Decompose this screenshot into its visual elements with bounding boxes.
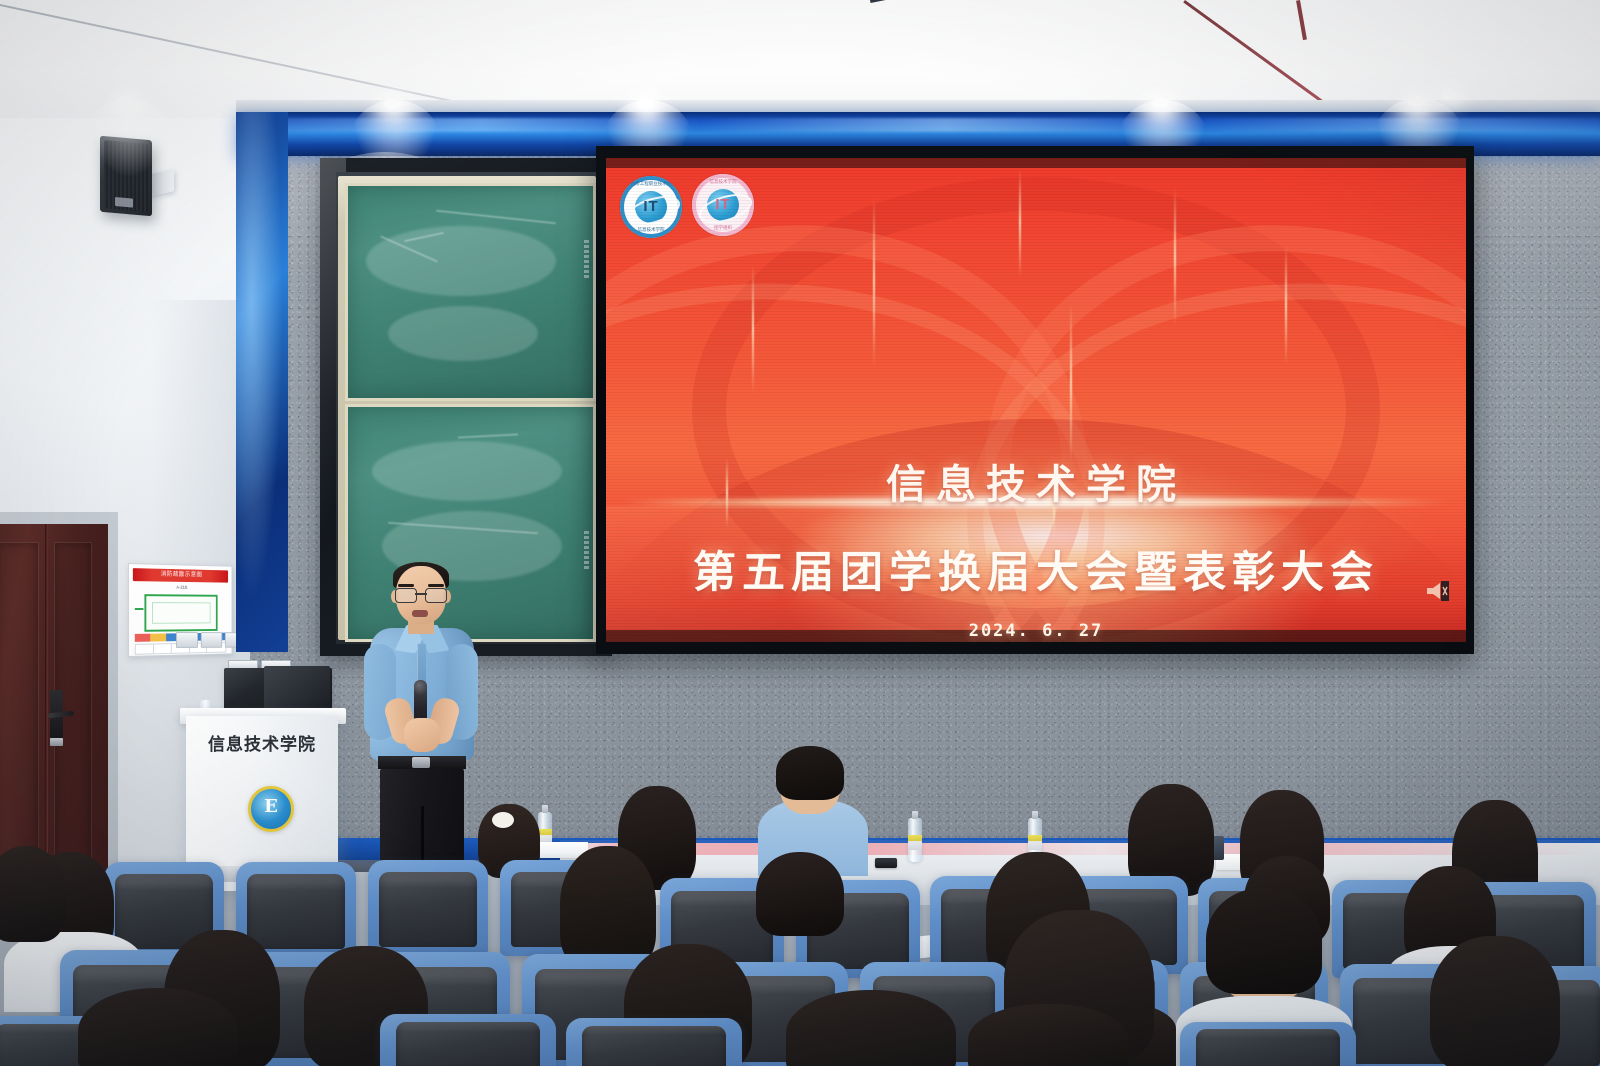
presenter-mouth xyxy=(412,610,428,617)
door-card-reader-icon[interactable] xyxy=(50,738,63,746)
presenter-brow xyxy=(428,584,444,587)
emblem-top-arc-text: 信息技术学院 xyxy=(692,179,754,185)
led-light-ray xyxy=(752,264,754,394)
speaker-mute-icon[interactable] xyxy=(1424,580,1450,602)
audience-hair xyxy=(968,1004,1128,1066)
presenter-shirt-placket xyxy=(417,644,426,682)
auditorium-seat[interactable] xyxy=(566,1018,742,1066)
led-light-ray xyxy=(1174,187,1176,327)
led-horizon-core xyxy=(744,494,1329,510)
auditorium-seat[interactable] xyxy=(1180,1022,1356,1066)
phone[interactable] xyxy=(875,858,897,868)
presenter-hands xyxy=(404,718,440,752)
emblem-bottom-arc-text: 团学组织 xyxy=(692,225,754,231)
presenter-brow xyxy=(398,584,414,587)
speaker-badge xyxy=(115,197,133,208)
emblem-top-arc-text: 广州市工程职业技术学院 xyxy=(620,181,682,187)
led-display[interactable]: 广州市工程职业技术学院 IT 信息技术学院 信息技术学院 IT 团学组织 xyxy=(606,158,1466,642)
downlight-icon xyxy=(1442,90,1457,99)
led-light-ray xyxy=(1019,168,1021,278)
blackboard-slide-ticks xyxy=(583,531,589,569)
desk-pink-accent xyxy=(560,843,1600,855)
door-panel xyxy=(0,542,39,864)
ceiling-seam xyxy=(870,0,1332,3)
water-bottle[interactable] xyxy=(908,818,922,862)
emblem-center-text: IT xyxy=(620,198,682,215)
auditorium-seat[interactable] xyxy=(368,860,488,956)
student-union-emblem-pink-icon: 信息技术学院 IT 团学组织 xyxy=(692,174,754,236)
ceiling-rail xyxy=(1296,0,1307,40)
audience-hair xyxy=(1206,888,1322,994)
led-light-ray xyxy=(726,458,728,528)
audience-hair xyxy=(786,990,956,1066)
glasses-icon xyxy=(395,588,447,601)
audience-hair xyxy=(776,746,844,800)
emblem-bottom-arc-text: 信息技术学院 xyxy=(620,227,682,233)
podium-emblem-icon xyxy=(248,786,294,832)
door-leaf-gap xyxy=(45,524,48,880)
led-bottom-band xyxy=(606,630,1466,642)
led-top-band xyxy=(606,158,1466,168)
college-emblem-blue-icon: 广州市工程职业技术学院 IT 信息技术学院 xyxy=(620,176,682,238)
blackboard-slide-ticks xyxy=(583,240,589,278)
downlight-glow xyxy=(84,98,174,178)
computer-monitor xyxy=(264,666,330,712)
led-floor-glow xyxy=(606,506,1466,642)
audience-hair xyxy=(0,846,66,942)
podium-label: 信息技术学院 xyxy=(186,730,338,755)
audience-hair xyxy=(78,988,238,1066)
evacuation-plan-title: 消防疏散示意图 xyxy=(133,568,228,583)
blue-led-trim-left xyxy=(236,112,288,652)
presenter xyxy=(360,566,480,886)
audience-hair xyxy=(1430,936,1560,1066)
presenter-belt-buckle xyxy=(412,757,430,768)
led-light-ray xyxy=(1053,477,1055,537)
auditorium-seat[interactable] xyxy=(380,1014,556,1066)
led-light-ray xyxy=(1070,303,1072,463)
led-light-ray xyxy=(1285,245,1287,365)
emblem-center-text: IT xyxy=(692,196,754,213)
evacuation-plan-room-code: A-215 xyxy=(129,584,232,590)
evacuation-map-diagram xyxy=(144,594,217,632)
blackboard-panel-upper xyxy=(345,183,596,401)
led-light-ray xyxy=(873,197,875,367)
evacuation-arrow-icon xyxy=(135,608,144,610)
auditorium-scene: 消防疏散示意图 A-215 xyxy=(0,0,1600,1066)
audience-hair xyxy=(756,852,844,936)
hair-scrunchie xyxy=(492,812,514,828)
